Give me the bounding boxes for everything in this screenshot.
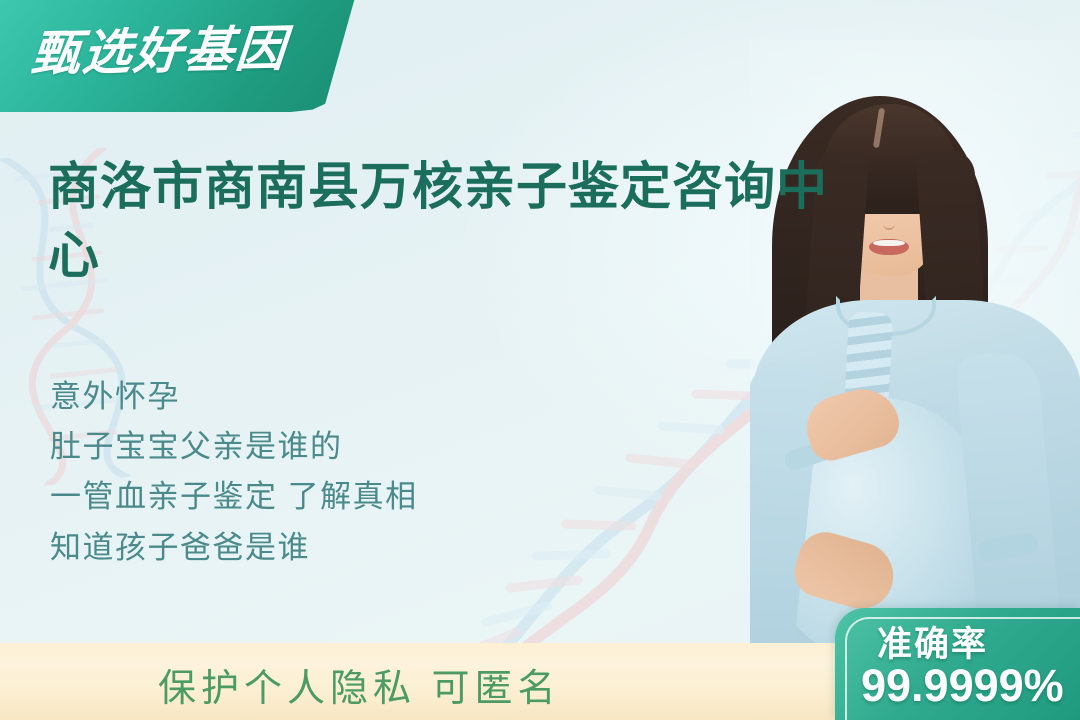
brand-logo-text: 甄选好基因: [29, 9, 290, 85]
page-title: 商洛市商南县万核亲子鉴定咨询中心: [48, 152, 848, 291]
accuracy-badge: 准确率 99.9999%: [835, 608, 1080, 720]
teeth: [873, 240, 905, 246]
copy-line: 一管血亲子鉴定 了解真相: [50, 472, 418, 522]
promo-banner: 甄选好基因 商洛市商南县万核亲子鉴定咨询中心 意外怀孕 肚子宝宝父亲是谁的 一管…: [0, 0, 1080, 720]
copy-line: 肚子宝宝父亲是谁的: [50, 422, 418, 472]
copy-line: 知道孩子爸爸是谁: [50, 523, 418, 573]
privacy-slogan: 保护个人隐私 可匿名: [158, 657, 561, 712]
nose: [883, 212, 895, 230]
brand-logo-tag: 甄选好基因: [0, 0, 356, 112]
accuracy-value: 99.9999%: [861, 660, 1064, 712]
copy-line: 意外怀孕: [50, 372, 418, 422]
pregnant-woman-photo: [750, 0, 1080, 680]
promo-copy: 意外怀孕 肚子宝宝父亲是谁的 一管血亲子鉴定 了解真相 知道孩子爸爸是谁: [50, 372, 418, 573]
